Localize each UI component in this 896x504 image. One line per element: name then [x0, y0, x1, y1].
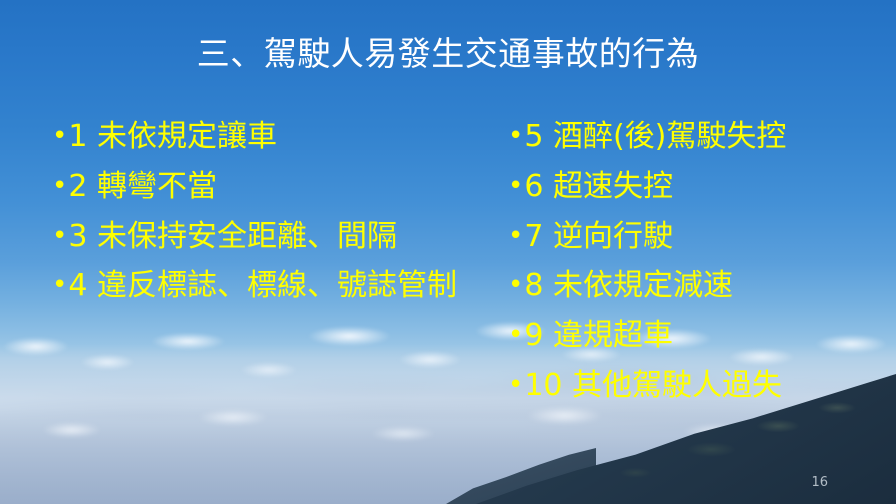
- list-item: 5 酒醉(後)駕駛失控: [508, 112, 896, 162]
- list-item: 9 違規超車: [508, 311, 896, 361]
- list-item: 4 違反標誌、標線、號誌管制: [52, 261, 482, 311]
- slide-title: 三、駕駛人易發生交通事故的行為: [0, 36, 896, 72]
- bullet-list-left: 1 未依規定讓車 2 轉彎不當 3 未保持安全距離、間隔 4 違反標誌、標線、號…: [52, 112, 482, 311]
- list-item: 1 未依規定讓車: [52, 112, 482, 162]
- slide-content: 三、駕駛人易發生交通事故的行為 1 未依規定讓車 2 轉彎不當 3 未保持安全距…: [0, 0, 896, 504]
- page-number: 16: [811, 475, 828, 490]
- list-item: 10 其他駕駛人過失: [508, 361, 896, 411]
- list-item: 6 超速失控: [508, 162, 896, 212]
- presentation-slide: 三、駕駛人易發生交通事故的行為 1 未依規定讓車 2 轉彎不當 3 未保持安全距…: [0, 0, 896, 504]
- list-item: 8 未依規定減速: [508, 261, 896, 311]
- list-item: 7 逆向行駛: [508, 212, 896, 262]
- bullet-list-right: 5 酒醉(後)駕駛失控 6 超速失控 7 逆向行駛 8 未依規定減速 9 違規超…: [508, 112, 896, 411]
- list-item: 2 轉彎不當: [52, 162, 482, 212]
- list-item: 3 未保持安全距離、間隔: [52, 212, 482, 262]
